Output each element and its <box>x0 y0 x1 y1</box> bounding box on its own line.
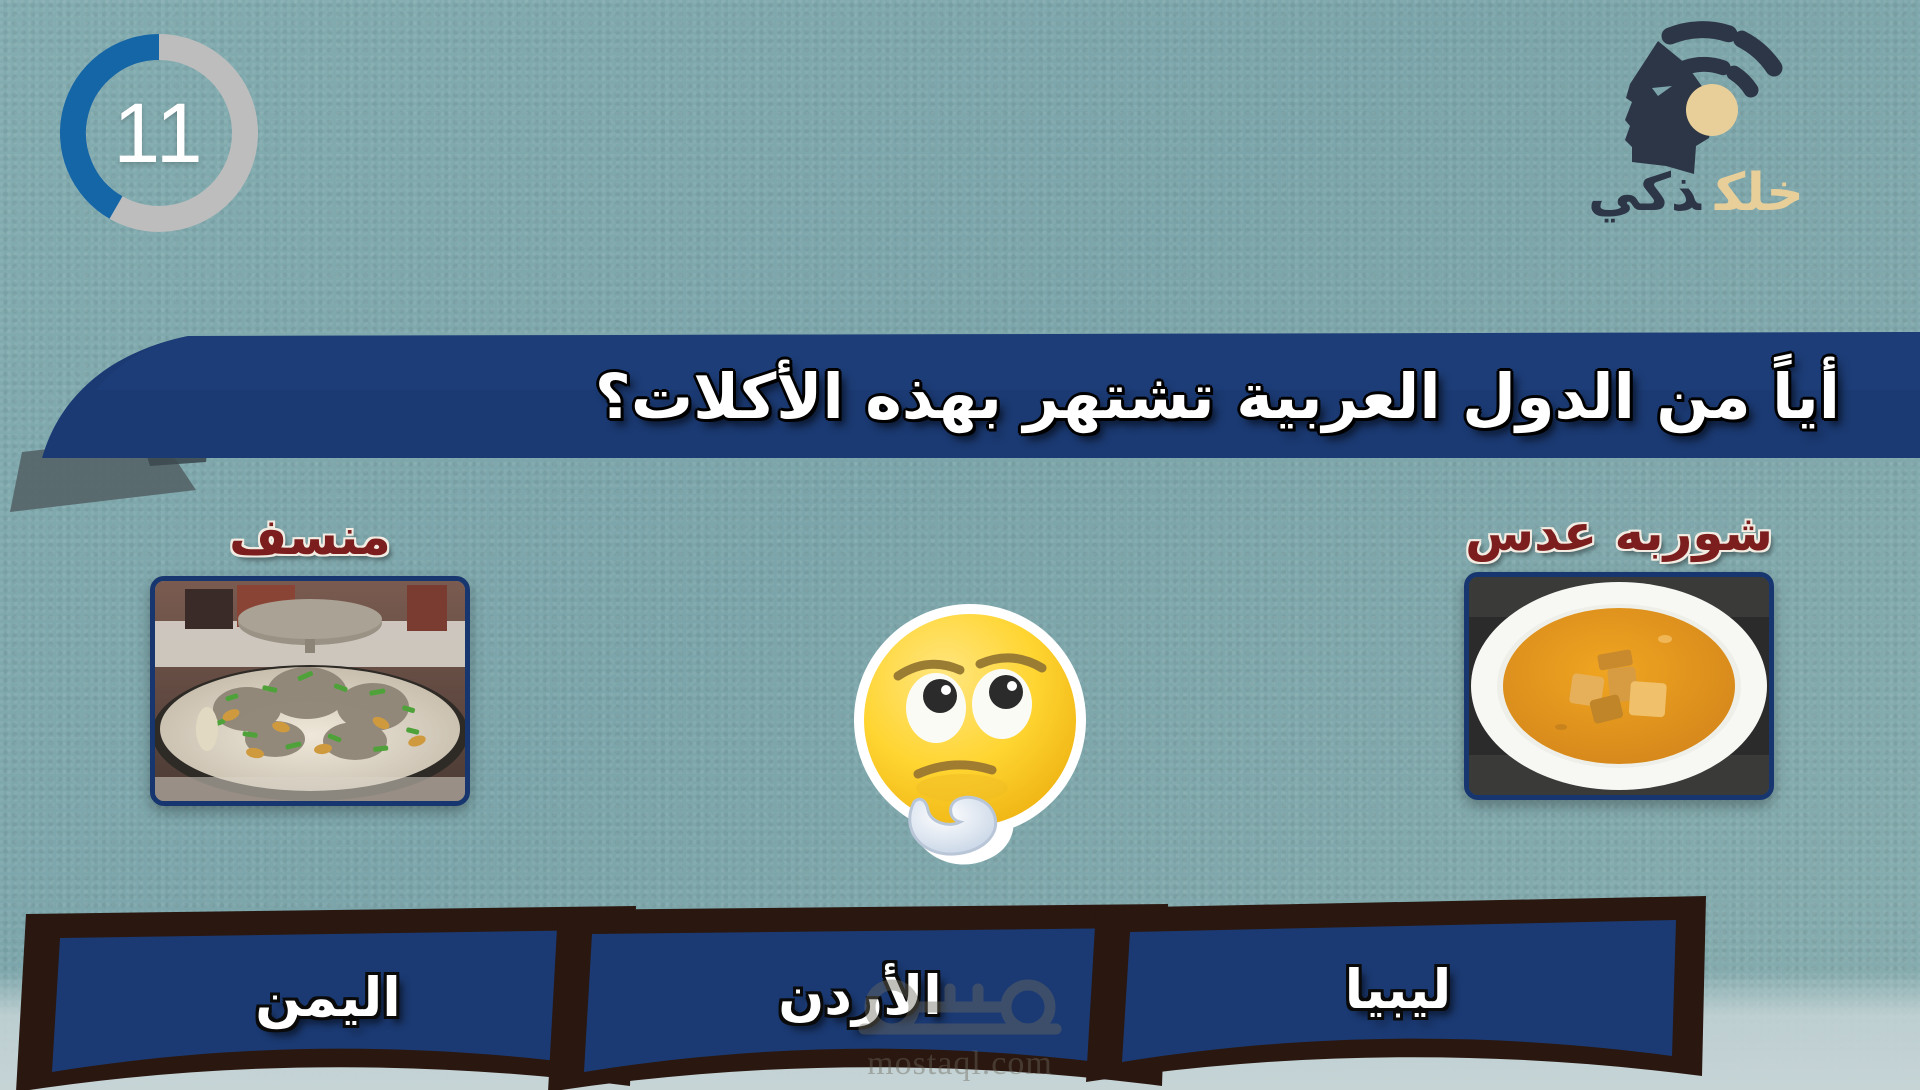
quiz-slide: 11 خلكذكي <box>0 0 1920 1090</box>
logo-word-primary: خلك <box>1715 163 1804 223</box>
head-wifi-icon <box>1546 6 1846 186</box>
food-thumb-left <box>150 576 470 806</box>
timer-value: 11 <box>48 22 270 244</box>
thinking-face-emoji <box>836 598 1104 876</box>
logo-wordmark: خلكذكي <box>1546 167 1846 219</box>
countdown-timer: 11 <box>48 22 270 244</box>
answer-button-libya[interactable]: ليبيا <box>1078 892 1718 1090</box>
logo-word-secondary: ذكي <box>1588 163 1701 223</box>
lentil-soup-image <box>1469 577 1769 795</box>
question-banner: أياً من الدول العربية تشتهر بهذه الأكلات… <box>0 330 1920 520</box>
brand-logo: خلكذكي <box>1546 6 1846 241</box>
thinking-face-emoji-glyph <box>836 598 1104 876</box>
answer-label-libya: ليبيا <box>1078 892 1718 1090</box>
food-card-right: شوربه عدس <box>1464 508 1774 800</box>
food-caption-left: منسف <box>150 512 470 562</box>
food-card-left: منسف <box>150 512 470 806</box>
food-thumb-right <box>1464 572 1774 800</box>
food-caption-right: شوربه عدس <box>1464 508 1774 558</box>
question-text: أياً من الدول العربية تشتهر بهذه الأكلات… <box>0 330 1880 462</box>
mansaf-dish-image <box>155 581 465 801</box>
